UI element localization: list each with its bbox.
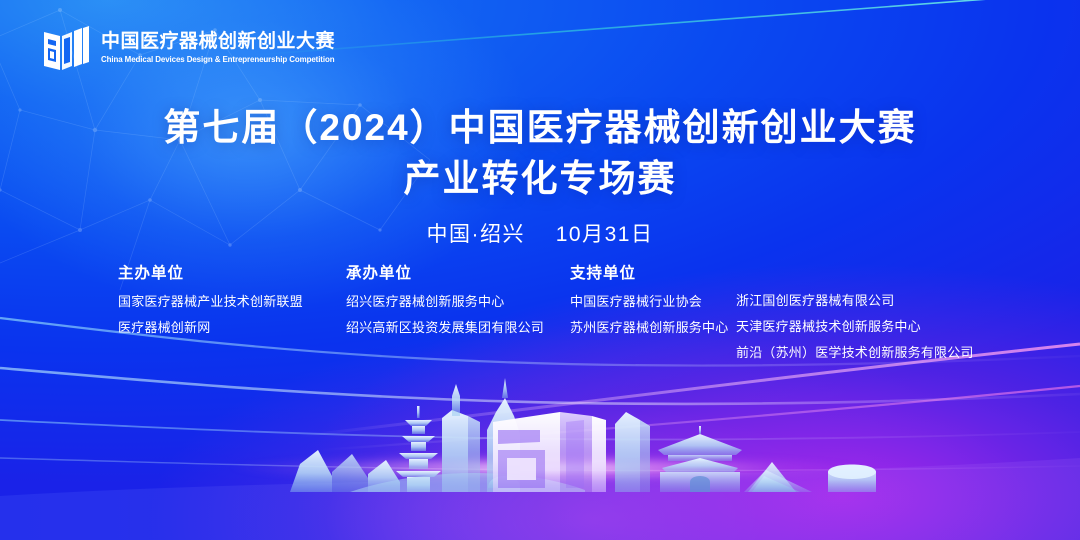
event-location: 中国·绍兴 <box>427 223 526 246</box>
page-title-line1: 第七届（2024）中国医疗器械创新创业大赛 <box>0 104 1080 151</box>
organizer-item: 浙江国创医疗器械有限公司 <box>736 294 974 307</box>
round-stadium <box>828 465 876 493</box>
organizer-heading: 承办单位 <box>346 266 544 282</box>
organizer-item: 天津医疗器械技术创新服务中心 <box>736 320 974 333</box>
organizer-item: 国家医疗器械产业技术创新联盟 <box>118 295 303 308</box>
stepped-terrace-building <box>744 462 812 492</box>
organizer-item: 中国医疗器械行业协会 <box>570 295 728 308</box>
event-date: 10月31日 <box>556 223 654 246</box>
organizer-column-host: 主办单位 国家医疗器械产业技术创新联盟 医疗器械创新网 <box>118 266 303 347</box>
organizer-item: 前沿（苏州）医学技术创新服务有限公司 <box>736 346 974 359</box>
organizer-heading: 支持单位 <box>570 266 728 282</box>
event-banner: 中国医疗器械创新创业大赛 China Medical Devices Desig… <box>0 0 1080 540</box>
title-block: 第七届（2024）中国医疗器械创新创业大赛 产业转化专场赛 <box>0 104 1080 203</box>
organizer-item: 绍兴医疗器械创新服务中心 <box>346 295 544 308</box>
organizer-column-organizer: 承办单位 绍兴医疗器械创新服务中心 绍兴高新区投资发展集团有限公司 <box>346 266 544 347</box>
organizer-column-supporter-extra: 浙江国创医疗器械有限公司 天津医疗器械技术创新服务中心 前沿（苏州）医学技术创新… <box>736 294 974 372</box>
organizers-section: 主办单位 国家医疗器械产业技术创新联盟 医疗器械创新网 承办单位 绍兴医疗器械创… <box>118 266 998 366</box>
open-book-door-logo-icon <box>42 24 90 72</box>
organizer-item: 医疗器械创新网 <box>118 321 303 334</box>
organizer-item: 绍兴高新区投资发展集团有限公司 <box>346 321 544 334</box>
glass-tower <box>615 412 650 492</box>
event-meta: 中国·绍兴 10月31日 <box>0 218 1080 248</box>
logo-name-en: China Medical Devices Design & Entrepren… <box>101 55 334 65</box>
logo-text: 中国医疗器械创新创业大赛 China Medical Devices Desig… <box>101 31 342 65</box>
traditional-city-gate <box>658 426 742 492</box>
competition-logo[interactable]: 中国医疗器械创新创业大赛 China Medical Devices Desig… <box>42 24 342 72</box>
organizer-item: 苏州医疗器械创新服务中心 <box>570 321 728 334</box>
logo-monument <box>493 412 606 492</box>
logo-name-cn: 中国医疗器械创新创业大赛 <box>101 31 342 53</box>
organizer-column-supporter: 支持单位 中国医疗器械行业协会 苏州医疗器械创新服务中心 <box>570 266 728 347</box>
city-skyline-illustration <box>0 372 1080 512</box>
page-title-line2: 产业转化专场赛 <box>0 155 1080 202</box>
organizer-heading: 主办单位 <box>118 266 303 282</box>
